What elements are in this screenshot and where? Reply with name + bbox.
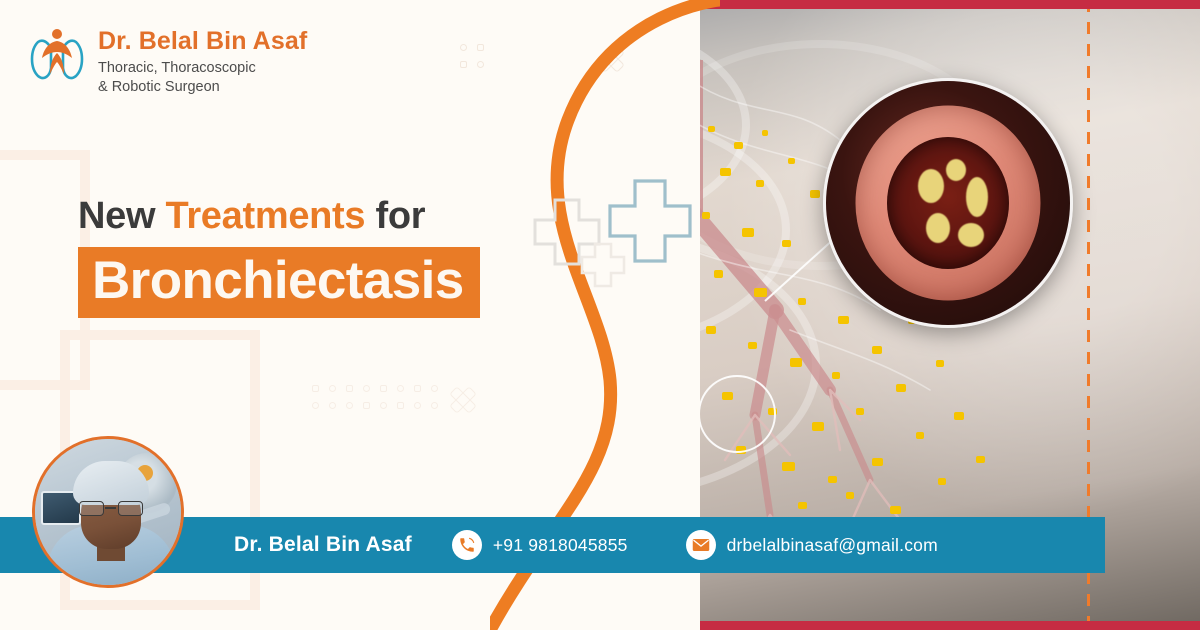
airway-lumen	[887, 137, 1009, 269]
medical-cross-group	[528, 178, 703, 293]
x-cluster-icon	[598, 46, 624, 72]
headline-word-treatments: Treatments	[166, 195, 366, 237]
brand-logo[interactable]: Dr. Belal Bin Asaf Thoracic, Thoracoscop…	[26, 24, 307, 97]
headline-word-new: New	[78, 195, 166, 237]
surgical-cap-shape	[73, 461, 149, 505]
bronchoscopy-inset	[823, 78, 1073, 328]
phone-icon	[452, 530, 482, 560]
glasses-icon	[79, 501, 143, 516]
dot-grid-icon	[312, 385, 476, 414]
contact-doctor-name: Dr. Belal Bin Asaf	[234, 533, 412, 557]
contact-phone[interactable]: +91 9818045855	[452, 530, 628, 560]
lungs-person-logo-icon	[26, 24, 88, 86]
brand-name: Dr. Belal Bin Asaf	[98, 28, 307, 56]
brand-subtitle: Thoracic, Thoracoscopic & Robotic Surgeo…	[98, 59, 307, 97]
phone-number: +91 9818045855	[493, 535, 628, 556]
headline-block: New Treatments for Bronchiectasis	[78, 196, 480, 318]
magnify-circle-icon	[698, 375, 776, 453]
doctor-portrait	[32, 436, 184, 588]
medical-cross-icon	[582, 244, 624, 286]
headline-line-1: New Treatments for	[78, 196, 480, 238]
headline-band: Bronchiectasis	[78, 247, 480, 318]
headline-line-2: Bronchiectasis	[92, 253, 464, 309]
x-cluster-icon	[450, 387, 476, 413]
envelope-icon	[686, 530, 716, 560]
medical-cross-icon	[535, 200, 599, 264]
poster-canvas: Dr. Belal Bin Asaf Thoracic, Thoracoscop…	[0, 0, 1200, 630]
dot-grid-icon	[460, 44, 624, 73]
email-address: drbelalbinasaf@gmail.com	[727, 535, 938, 556]
contact-email[interactable]: drbelalbinasaf@gmail.com	[686, 530, 938, 560]
headline-word-for: for	[365, 195, 425, 237]
medical-cross-icon	[610, 181, 690, 261]
